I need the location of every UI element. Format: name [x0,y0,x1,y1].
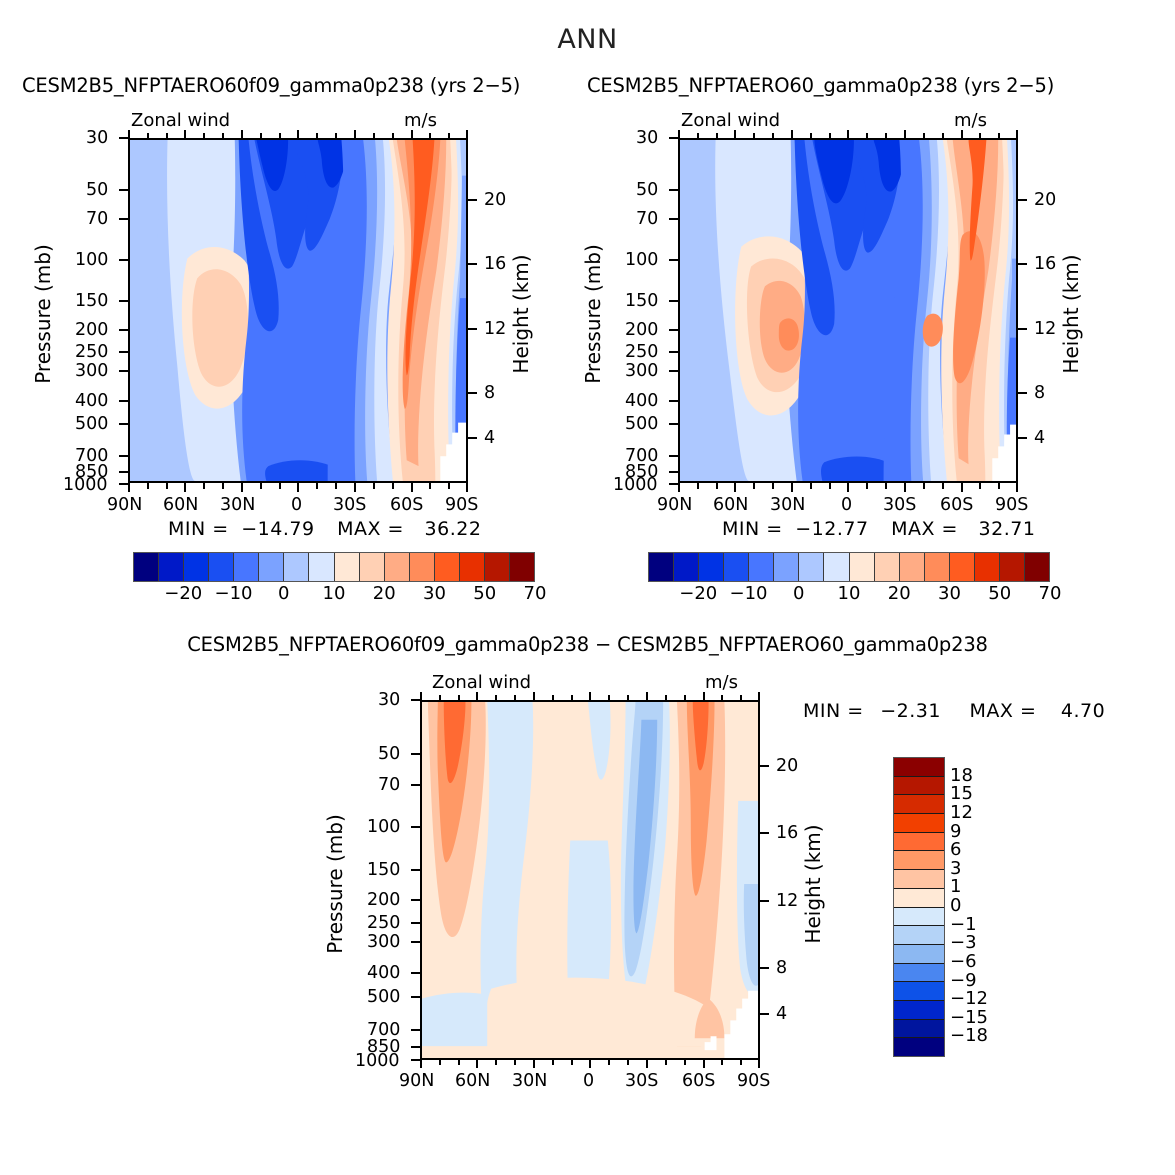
htick-label-12-difference: 12 [776,891,798,911]
height-axis-label-difference: Height (km) [801,814,825,954]
min-value-test: −14.79 [241,518,314,540]
colorbar-tick-label: 30 [938,583,961,604]
htick-label-16-test: 16 [484,254,506,274]
colorbar-cell [134,553,159,581]
colorbar-tick-label: 10 [323,583,346,604]
pressure-axis-label-test: Pressure (mb) [31,244,55,384]
colorbar-cell [360,553,385,581]
xtick-60N-test [184,483,186,492]
ytick-100-test [119,259,128,261]
xtick-label-90N-control: 90N [657,495,692,515]
ytick-200-test [119,329,128,331]
colorbar-cell [1000,553,1025,581]
colorbar-cell [234,553,259,581]
xtick-label-30N-difference: 30N [512,1071,547,1091]
colorbar-cell [209,553,234,581]
colorbar-cell [1025,553,1049,581]
colorbar-tick-label: −20 [164,583,202,604]
xtick-label-30S-control: 30S [883,495,916,515]
colorbar-cell [894,982,944,1001]
xtick-label-0-control: 0 [841,495,852,515]
htick-label-12-test: 12 [484,319,506,339]
minmax-text-test: MIN = −14.79 MAX = 36.22 [168,518,481,540]
xtick-60S-test [411,483,413,492]
panel-title-control: CESM2B5_NFPTAERO60_gamma0p238 (yrs 2−5) [587,74,1054,97]
xtick-label-60N-test: 60N [163,495,198,515]
xtick-90N-test [128,483,130,492]
colorbar-cell [284,553,309,581]
colorbar-cell [894,795,944,814]
colorbar-cell [485,553,510,581]
colorbar-test[interactable] [133,552,535,582]
colorbar-tick-label: −20 [679,583,717,604]
xtick-label-30N-control: 30N [770,495,805,515]
max-label-control: MAX = [891,518,958,540]
htick-4-test [468,437,477,439]
colorbar-cell [894,851,944,870]
colorbar-tick-label: 0 [793,583,804,604]
ytick-400-test [119,400,128,402]
colorbar-cell [894,964,944,983]
colorbar-tick-label: −10 [730,583,768,604]
pressure-axis-label-difference: Pressure (mb) [323,814,347,954]
colorbar-tick-label: 50 [473,583,496,604]
colorbar-cell [975,553,1000,581]
colorbar-labels-difference: 18151296310−1−3−6−9−12−15−18 [950,757,1010,1055]
ytick-label-250-test: 250 [75,342,108,362]
ytick-label-500-difference: 500 [367,987,400,1007]
colorbar-cell [894,1020,944,1039]
ytick-70-test [119,218,128,220]
xtick-90S-test [466,483,468,492]
htick-label-4-difference: 4 [776,1004,787,1024]
colorbar-tick-label: 0 [278,583,289,604]
htick-label-20-difference: 20 [776,756,798,776]
xtick-label-60S-test: 60S [390,495,423,515]
ytick-label-150-test: 150 [75,291,108,311]
height-axis-label-control: Height (km) [1059,244,1083,384]
colorbar-cell [950,553,975,581]
colorbar-cell [159,553,184,581]
colorbar-cell [724,553,749,581]
colorbar-cell [649,553,674,581]
pressure-axis-label-control: Pressure (mb) [581,244,605,384]
ytick-label-100-difference: 100 [367,817,400,837]
colorbar-cell [510,553,534,581]
colorbar-cell [894,777,944,796]
xtick-label-60S-difference: 60S [682,1071,715,1091]
ytick-label-30-test: 30 [86,128,108,148]
panel-title-test: CESM2B5_NFPTAERO60f09_gamma0p238 (yrs 2−… [22,74,520,97]
colorbar-labels-test: −20−1001020305070 [133,583,533,607]
colorbar-cell [309,553,334,581]
colorbar-cell [894,908,944,927]
ytick-label-250-difference: 250 [367,913,400,933]
height-axis-label-test: Height (km) [509,244,533,384]
panel-units-label-difference: m/s [705,672,738,693]
min-value-difference: −2.31 [880,700,941,722]
colorbar-cell [894,1001,944,1020]
colorbar-difference[interactable] [893,757,945,1057]
colorbar-cell [824,553,849,581]
xtick-label-30S-difference: 30S [625,1071,658,1091]
xtick-0-test [297,483,299,492]
colorbar-cell [894,889,944,908]
colorbar-control[interactable] [648,552,1050,582]
contour-field-control [680,140,1016,481]
ytick-label-250-control: 250 [625,342,658,362]
plot-area-difference[interactable] [420,700,760,1060]
plot-area-control[interactable] [678,138,1018,483]
ytick-label-100-control: 100 [625,250,658,270]
xtick-label-30N-test: 30N [220,495,255,515]
xtick-label-0-difference: 0 [583,1071,594,1091]
htick-label-8-difference: 8 [776,958,787,978]
ytick-label-50-test: 50 [86,180,108,200]
ytick-500-test [119,423,128,425]
max-value-control: 32.71 [979,518,1036,540]
colorbar-cell [259,553,284,581]
minmax-text-difference: MIN = −2.31 MAX = 4.70 [803,700,1105,722]
min-label-test: MIN = [168,518,229,540]
htick-20-test [468,199,477,201]
colorbar-cell [925,553,950,581]
colorbar-cell [699,553,724,581]
ytick-label-400-control: 400 [625,391,658,411]
colorbar-tick-label: 20 [373,583,396,604]
ytick-250-test [119,351,128,353]
panel-units-label-control: m/s [954,110,987,131]
ytick-label-30-difference: 30 [378,690,400,710]
htick-label-20-test: 20 [484,190,506,210]
max-label-difference: MAX = [970,700,1037,722]
colorbar-cell [184,553,209,581]
ytick-label-1000-test: 1000 [63,475,108,495]
max-value-difference: 4.70 [1061,700,1105,722]
colorbar-tick-label: 30 [423,583,446,604]
colorbar-cell [674,553,699,581]
colorbar-cell [410,553,435,581]
xtick-label-60N-difference: 60N [455,1071,490,1091]
ytick-label-70-test: 70 [86,209,108,229]
xtick-30S-test [354,483,356,492]
ytick-label-1000-difference: 1000 [355,1051,400,1071]
panel-variable-label-difference: Zonal wind [432,672,531,693]
contour-field-test [130,140,466,481]
minmax-text-control: MIN = −12.77 MAX = 32.71 [722,518,1035,540]
min-label-control: MIN = [722,518,783,540]
colorbar-cell [774,553,799,581]
colorbar-cell [894,926,944,945]
colorbar-cell [900,553,925,581]
ytick-label-400-test: 400 [75,391,108,411]
season-title: ANN [0,24,1175,55]
colorbar-tick-label: 70 [1039,583,1062,604]
xtick-label-30S-test: 30S [333,495,366,515]
colorbar-cell [894,1038,944,1056]
ytick-label-300-test: 300 [75,361,108,381]
panel-variable-label-test: Zonal wind [131,110,230,131]
htick-label-4-test: 4 [484,428,495,448]
ytick-label-70-difference: 70 [378,775,400,795]
colorbar-cell [460,553,485,581]
ytick-700-test [119,455,128,457]
htick-label-8-control: 8 [1034,383,1045,403]
xtick-label-0-test: 0 [291,495,302,515]
xtick-label-60N-control: 60N [713,495,748,515]
ytick-label-100-test: 100 [75,250,108,270]
ytick-850-test [119,471,128,473]
min-label-difference: MIN = [803,700,864,722]
max-value-test: 36.22 [425,518,482,540]
xtick-30N-test [241,483,243,492]
colorbar-cell [435,553,460,581]
colorbar-tick-label: 20 [888,583,911,604]
ytick-1000-test [119,483,128,485]
colorbar-tick-label: 70 [524,583,547,604]
colorbar-cell [850,553,875,581]
ytick-label-400-difference: 400 [367,963,400,983]
xtick-label-90S-difference: 90S [737,1071,770,1091]
xtick-label-90S-test: 90S [445,495,478,515]
colorbar-tick-label: −18 [950,1025,988,1046]
ytick-label-50-control: 50 [636,180,658,200]
htick-12-test [468,328,477,330]
htick-8-test [468,392,477,394]
colorbar-tick-label: 50 [988,583,1011,604]
colorbar-cell [385,553,410,581]
ytick-300-test [119,370,128,372]
colorbar-cell [894,758,944,777]
htick-16-test [468,263,477,265]
ytick-label-300-control: 300 [625,361,658,381]
ytick-label-150-difference: 150 [367,860,400,880]
colorbar-cell [894,945,944,964]
htick-label-8-test: 8 [484,383,495,403]
ytick-label-30-control: 30 [636,128,658,148]
max-label-test: MAX = [337,518,404,540]
htick-label-4-control: 4 [1034,428,1045,448]
ytick-label-200-control: 200 [625,320,658,340]
ytick-label-300-difference: 300 [367,932,400,952]
panel-title-difference: CESM2B5_NFPTAERO60f09_gamma0p238 − CESM2… [0,633,1175,656]
plot-area-test[interactable] [128,138,468,483]
ytick-label-150-control: 150 [625,291,658,311]
panel-units-label-test: m/s [404,110,437,131]
colorbar-cell [875,553,900,581]
xtick-label-90N-difference: 90N [399,1071,434,1091]
colorbar-cell [335,553,360,581]
panel-variable-label-control: Zonal wind [681,110,780,131]
ytick-label-200-difference: 200 [367,890,400,910]
htick-label-16-difference: 16 [776,823,798,843]
colorbar-cell [894,814,944,833]
ytick-label-70-control: 70 [636,209,658,229]
ytick-150-test [119,300,128,302]
ytick-label-50-difference: 50 [378,744,400,764]
xtick-label-60S-control: 60S [940,495,973,515]
contour-field-difference [422,702,758,1058]
ytick-label-200-test: 200 [75,320,108,340]
min-value-control: −12.77 [795,518,868,540]
ytick-label-1000-control: 1000 [613,475,658,495]
colorbar-cell [894,870,944,889]
colorbar-cell [749,553,774,581]
ytick-50-test [119,189,128,191]
colorbar-cell [799,553,824,581]
htick-label-12-control: 12 [1034,319,1056,339]
colorbar-cell [894,833,944,852]
xtick-label-90N-test: 90N [107,495,142,515]
xtick-label-90S-control: 90S [995,495,1028,515]
htick-label-20-control: 20 [1034,190,1056,210]
htick-label-16-control: 16 [1034,254,1056,274]
colorbar-labels-control: −20−1001020305070 [648,583,1048,607]
ytick-label-500-test: 500 [75,414,108,434]
ytick-label-500-control: 500 [625,414,658,434]
ytick-30-test [119,137,128,139]
colorbar-tick-label: 10 [838,583,861,604]
colorbar-tick-label: −10 [215,583,253,604]
